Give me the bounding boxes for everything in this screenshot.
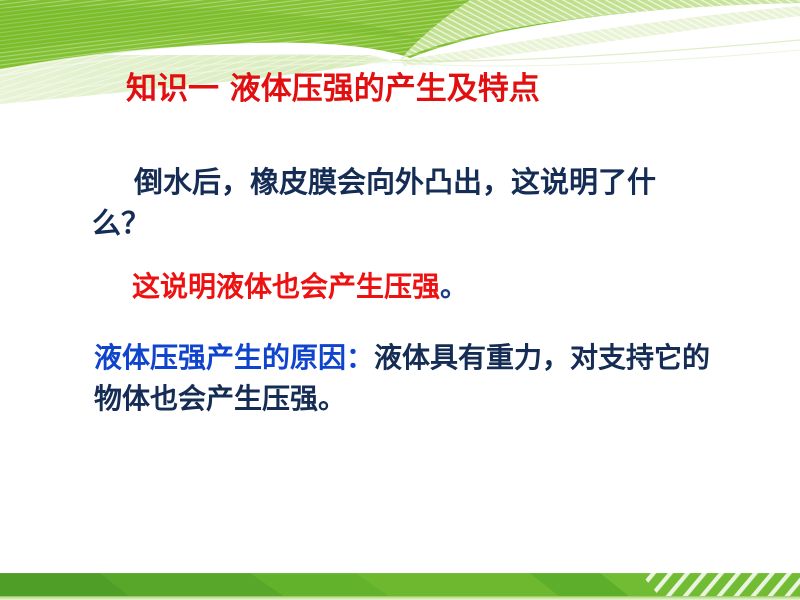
answer-text-main: 这说明液体也会产生压强 — [132, 270, 440, 303]
answer-text: 这说明液体也会产生压强。 — [132, 270, 468, 304]
answer-text-period: 。 — [440, 270, 468, 303]
reason-text: 液体压强产生的原因：液体具有重力，对支持它的物体也会产生压强。 — [94, 338, 714, 419]
slide-canvas: 知识一 液体压强的产生及特点 倒水后，橡皮膜会向外凸出，这说明了什么？ 这说明液… — [0, 0, 800, 600]
question-text: 倒水后，橡皮膜会向外凸出，这说明了什么？ — [92, 162, 692, 244]
reason-label: 液体压强产生的原因： — [94, 341, 374, 374]
page-title: 知识一 液体压强的产生及特点 — [126, 72, 540, 106]
slide-content: 知识一 液体压强的产生及特点 倒水后，橡皮膜会向外凸出，这说明了什么？ 这说明液… — [0, 0, 800, 600]
